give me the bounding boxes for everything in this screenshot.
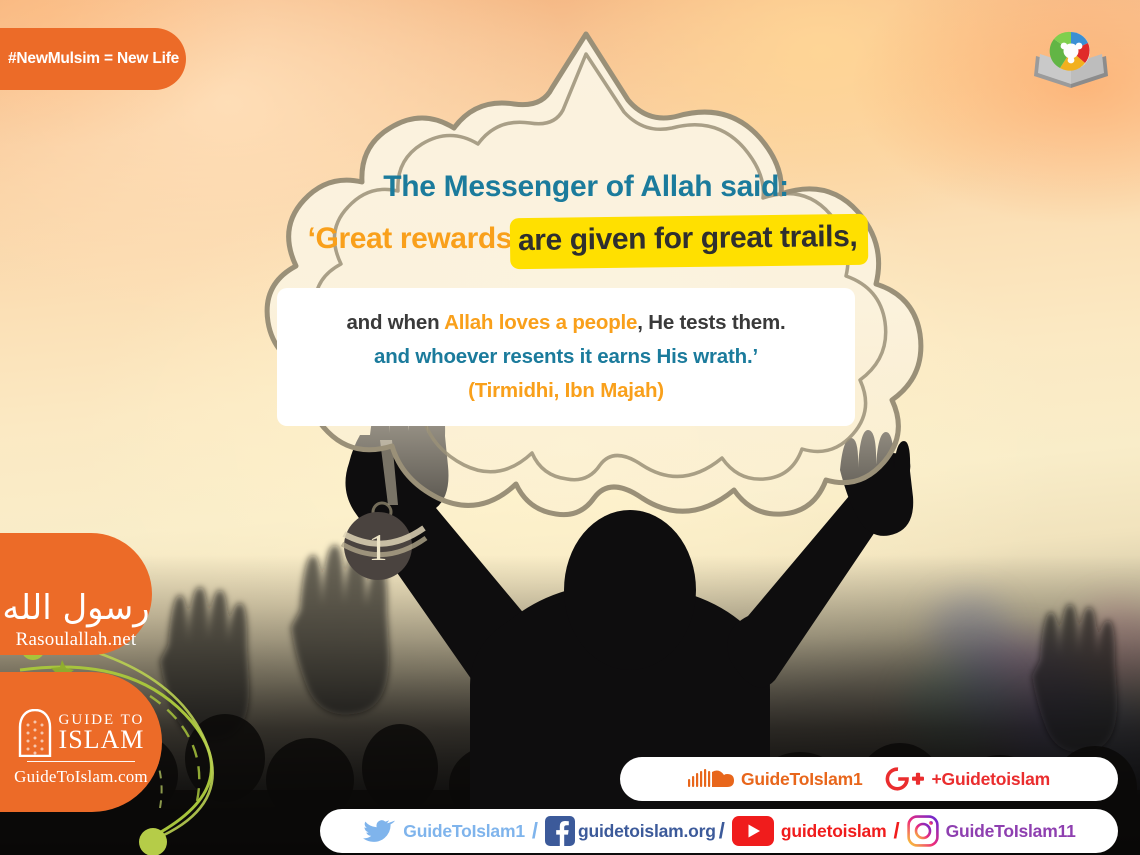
quote-line-3-c: , He tests them. (637, 311, 785, 334)
twitter-icon (362, 817, 396, 845)
mihrab-arch-icon (18, 709, 52, 757)
guidetoislam-divider (27, 761, 135, 763)
instagram-label: GuideToIslam11 (946, 821, 1076, 842)
googleplus-label: +Guidetoislam (932, 769, 1050, 790)
quote-line-3: and when Allah loves a people, He tests … (346, 311, 785, 335)
soundcloud-label: GuideToIslam1 (741, 769, 863, 790)
quote-line-3-a: and when (346, 311, 444, 334)
googleplus-icon (885, 766, 925, 792)
separator: / (719, 818, 725, 844)
quote-block: The Messenger of Allah said: ‘Great rewa… (250, 170, 922, 260)
quote-source: (Tirmidhi, Ibn Majah) (468, 379, 664, 403)
instagram-icon (907, 815, 939, 847)
quote-line-4: and whoever resents it earns His wrath.’ (374, 345, 758, 369)
social-link-facebook[interactable]: guidetoislam.org / (545, 816, 725, 846)
hashtag-badge-label: #NewMulsim = New Life (0, 50, 179, 68)
social-link-twitter[interactable]: GuideToIslam1 / (362, 817, 538, 845)
social-link-soundcloud[interactable]: GuideToIslam1 (688, 767, 863, 791)
quote-line-2: ‘Great rewardsare given for great trails… (250, 220, 922, 260)
twitter-label: GuideToIslam1 (403, 821, 525, 842)
facebook-label: guidetoislam.org (578, 821, 716, 842)
soundcloud-icon (688, 767, 734, 791)
social-link-instagram[interactable]: GuideToIslam11 (907, 815, 1076, 847)
poster-canvas: 1 The Messenger of Allah said: ‘Great re… (0, 0, 1140, 855)
globe-book-logo-icon[interactable] (1030, 26, 1112, 92)
quote-line-1: The Messenger of Allah said: (250, 170, 922, 204)
guidetoislam-domain: GuideToIslam.com (14, 767, 148, 787)
youtube-icon (732, 816, 774, 846)
social-link-youtube[interactable]: guidetoislam / (732, 816, 900, 846)
social-bar-top: GuideToIslam1 +Guidetoislam (620, 757, 1118, 801)
rasoulallah-logo[interactable]: رسول الله Rasoulallah.net (0, 533, 152, 655)
social-link-googleplus[interactable]: +Guidetoislam (885, 766, 1050, 792)
quote-line-3-b: Allah loves a people (444, 311, 637, 334)
quote-card-lines: and when Allah loves a people, He tests … (277, 288, 855, 426)
youtube-label: guidetoislam (781, 821, 887, 842)
facebook-icon (545, 816, 575, 846)
quote-line-2-highlight: are given for great trails, (512, 218, 865, 262)
separator: / (893, 818, 899, 844)
separator: / (532, 818, 538, 844)
rasoulallah-arabic-calligraphy: رسول الله (2, 591, 149, 625)
rasoulallah-domain: Rasoulallah.net (16, 629, 137, 651)
quote-line-2-part1: ‘Great rewards (308, 222, 513, 255)
guidetoislam-line-b: ISLAM (59, 728, 145, 752)
guidetoislam-logo[interactable]: GUIDE TO ISLAM GuideToIslam.com (0, 672, 162, 812)
hashtag-badge: #NewMulsim = New Life (0, 28, 186, 90)
social-bar-bottom: GuideToIslam1 / guidetoislam.org / guide… (320, 809, 1118, 853)
